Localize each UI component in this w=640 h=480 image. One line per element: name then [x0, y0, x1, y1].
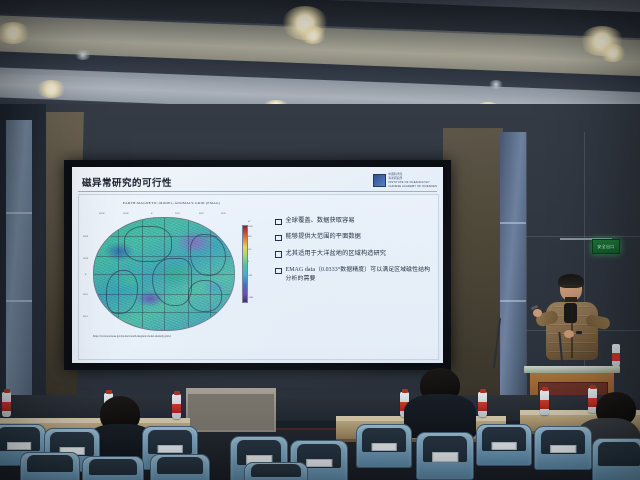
presenter-watch [576, 331, 582, 334]
audience-seat [416, 432, 474, 480]
logo-mark-icon [373, 174, 386, 187]
bullet-text: 尤其适用于大洋盆地的区域构造研究 [286, 250, 387, 258]
colorbar-tick: -200 [248, 275, 252, 277]
logo-line-4: CHINESE ACADEMY OF SCIENCES [388, 185, 437, 188]
bullet-square-icon [275, 235, 282, 242]
coastline-outline [188, 280, 222, 312]
ceiling-spotlight [600, 44, 626, 62]
logo-line-2: 海洋研究所 [388, 177, 437, 180]
audience-seat [20, 452, 80, 480]
coastline-outline [190, 234, 226, 276]
projection-screen[interactable]: 磁异常研究的可行性 中国科学院 海洋研究所 INSTITUTE OF OCEAN… [72, 167, 443, 363]
institution-logo: 中国科学院 海洋研究所 INSTITUTE OF OCEANOLOGY CHIN… [373, 173, 437, 188]
colorbar-tick: 1000 [248, 226, 252, 228]
lon-tick: 60°W [99, 212, 105, 215]
lat-tick: 60°S [83, 315, 88, 318]
lat-tick: 30°N [83, 257, 88, 260]
pillar-seam [500, 222, 526, 224]
lat-tick: 60°N [83, 235, 88, 238]
lat-tick: 0° [85, 273, 87, 276]
ceiling-spotlight-dim [74, 50, 92, 60]
left-pillar [6, 120, 32, 420]
slide-title-divider [78, 191, 437, 192]
front-lectern-box [186, 388, 276, 432]
colorbar-tick: -1000 [248, 297, 253, 299]
colorbar-tick: 100 [248, 249, 251, 251]
ceiling-spotlight [300, 26, 326, 44]
pillar-seam [6, 300, 32, 302]
pillar-seam [500, 300, 526, 302]
presenter-right-hand [564, 330, 574, 338]
right-pillar [500, 132, 526, 400]
slide-title: 磁异常研究的可行性 [82, 175, 172, 189]
lecture-hall-photo: 磁异常研究的可行性 中国科学院 海洋研究所 INSTITUTE OF OCEAN… [0, 0, 640, 480]
bullet-item: 尤其适用于大洋盆地的区域构造研究 [275, 250, 433, 258]
audience-seat [150, 454, 210, 480]
colorbar-unit: nT [248, 221, 250, 223]
audience-seat [534, 426, 592, 470]
bullet-item: EMAG data（0.0333°数据精度）可以满足区域磁性结构分析的需要 [275, 266, 433, 283]
ceiling-spotlight [36, 80, 66, 98]
colorbar-tick: 600 [248, 236, 251, 238]
wall-tile-line [526, 132, 527, 400]
colorbar-tick: 0 [248, 261, 249, 263]
ceiling [0, 0, 640, 118]
figure-caption: EARTH-MAGNETIC-MODEL-ANOMALY-GRID (EMAG) [89, 201, 254, 205]
ceiling-spotlight-dim [488, 80, 504, 89]
logo-line-3: INSTITUTE OF OCEANOLOGY [388, 181, 437, 184]
water-bottle [540, 390, 549, 415]
magnetic-anomaly-figure: EARTH-MAGNETIC-MODEL-ANOMALY-GRID (EMAG)… [83, 201, 258, 353]
coastline-outline [152, 258, 192, 306]
slide-content-area: EARTH-MAGNETIC-MODEL-ANOMALY-GRID (EMAG)… [78, 194, 439, 360]
bullet-text: 能够提供大范围的平面数据 [286, 233, 361, 241]
lon-tick: 60°E [199, 212, 204, 215]
water-bottle [478, 392, 487, 417]
water-bottle [612, 344, 620, 366]
pillar-seam [6, 212, 32, 214]
presenter [538, 276, 612, 380]
audience-seat [82, 456, 144, 480]
bullet-square-icon [275, 219, 282, 226]
water-bottle [172, 394, 181, 419]
lon-tick: 90°E [221, 212, 226, 215]
bullet-text: EMAG data（0.0333°数据精度）可以满足区域磁性结构分析的需要 [286, 266, 434, 283]
audience-seat [592, 438, 640, 480]
lat-tick: 30°S [83, 293, 88, 296]
global-magnetic-anomaly-map [93, 217, 235, 331]
logo-line-1: 中国科学院 [388, 173, 437, 176]
bullet-item: 全球覆盖、数据获取容易 [275, 217, 433, 225]
emergency-exit-sign: 安全出口 [592, 239, 620, 254]
podium-top-surface [524, 366, 620, 373]
bullet-square-icon [275, 268, 282, 275]
bullet-item: 能够提供大范围的平面数据 [275, 233, 433, 241]
projection-screen-frame: 磁异常研究的可行性 中国科学院 海洋研究所 INSTITUTE OF OCEAN… [64, 160, 451, 370]
figure-source-url: https://www.ncei.noaa.gov/products/earth… [93, 335, 253, 339]
lon-tick: 30°W [123, 212, 129, 215]
bullet-square-icon [275, 251, 282, 258]
lon-tick: 30°E [175, 212, 180, 215]
slide-bullet-list: 全球覆盖、数据获取容易 能够提供大范围的平面数据 尤其适用于大洋盆地的区域构造研… [275, 217, 433, 291]
presenter-left-hand [533, 309, 542, 317]
coastline-outline [124, 226, 172, 262]
exit-sign-label: 安全出口 [597, 244, 614, 250]
bullet-text: 全球覆盖、数据获取容易 [286, 217, 355, 225]
wall-tile-line [526, 236, 640, 237]
lon-tick: 0° [151, 212, 153, 215]
audience-seat [356, 424, 412, 468]
water-bottle [2, 392, 11, 417]
audience-seat [244, 462, 308, 480]
presenter-glasses [562, 285, 580, 290]
audience-seat [476, 424, 532, 466]
